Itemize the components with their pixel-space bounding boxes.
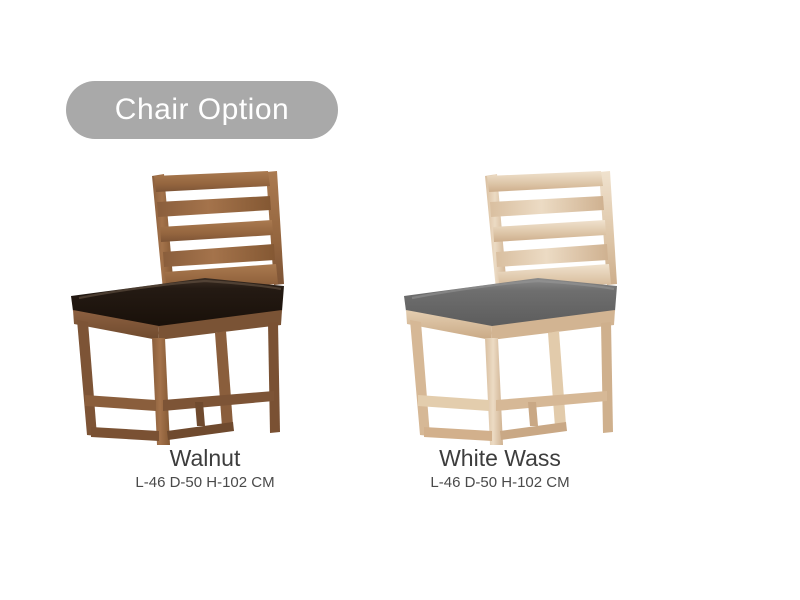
- leg-front-right: [548, 331, 566, 427]
- stretcher-front-low: [424, 427, 492, 441]
- product-caption-walnut: Walnut L-46 D-50 H-102 CM: [55, 445, 355, 495]
- product-card-walnut[interactable]: Walnut L-46 D-50 H-102 CM: [55, 150, 355, 510]
- back-slat-1: [157, 196, 271, 217]
- back-slat-2: [160, 220, 273, 242]
- leg-rear-right: [268, 322, 280, 433]
- product-name-walnut: Walnut: [55, 445, 355, 472]
- chair-illustration-white-wash: [350, 150, 650, 450]
- stretcher-right: [496, 391, 607, 411]
- product-dimensions-white-wash: L-46 D-50 H-102 CM: [350, 472, 650, 495]
- chair-legs-walnut: [77, 320, 280, 445]
- stretcher-left: [85, 395, 156, 411]
- back-slat-3: [496, 244, 608, 267]
- chair-option-badge: Chair Option: [66, 81, 338, 139]
- back-slat-2: [493, 220, 606, 242]
- badge-label: Chair Option: [115, 95, 289, 125]
- stretcher-right: [163, 391, 274, 411]
- stretcher-front-low: [91, 427, 159, 441]
- chair-illustration-walnut: [55, 150, 355, 450]
- chair-back-white-wash: [485, 171, 617, 291]
- product-name-white-wash: White Wass: [350, 445, 650, 472]
- back-top-rail: [487, 171, 603, 192]
- chair-seat-walnut: [71, 278, 284, 340]
- stretcher-left: [418, 395, 489, 411]
- product-dimensions-walnut: L-46 D-50 H-102 CM: [55, 472, 355, 495]
- leg-rear-left: [77, 320, 97, 436]
- back-slat-3: [163, 244, 275, 267]
- chair-image-white-wash: [350, 150, 650, 450]
- leg-front-center: [152, 338, 170, 445]
- leg-rear-right: [601, 322, 613, 433]
- chair-legs-white-wash: [410, 320, 613, 445]
- back-slat-1: [490, 196, 604, 217]
- chair-back-walnut: [152, 171, 284, 291]
- chair-seat-white-wash: [404, 278, 617, 340]
- back-top-rail: [154, 171, 270, 192]
- chair-image-walnut: [55, 150, 355, 450]
- leg-rear-left: [410, 320, 430, 436]
- leg-front-right: [215, 331, 233, 427]
- product-card-white-wash[interactable]: White Wass L-46 D-50 H-102 CM: [350, 150, 650, 510]
- leg-front-center: [485, 338, 503, 445]
- product-caption-white-wash: White Wass L-46 D-50 H-102 CM: [350, 445, 650, 495]
